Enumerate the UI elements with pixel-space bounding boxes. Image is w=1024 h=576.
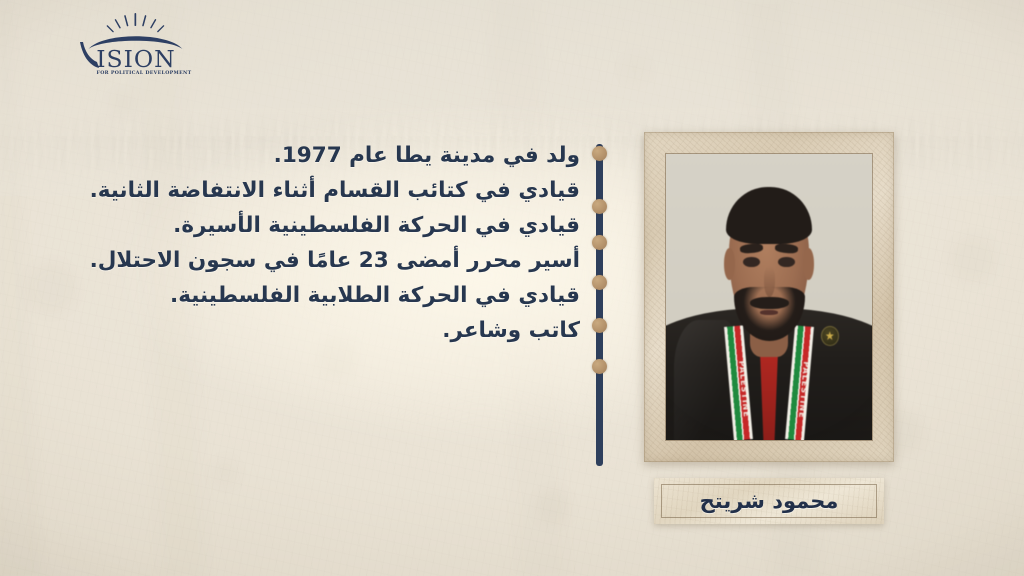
person-name: محمود شريتح: [654, 478, 884, 524]
portrait-photo: PALESTINE PALESTINE: [666, 154, 872, 440]
vision-logo: ISION FOR POLITICAL DEVELOPMENT: [68, 12, 203, 76]
portrait-mustache: [750, 297, 788, 309]
bio-line: ولد في مدينة يطا عام 1977.: [60, 138, 580, 173]
jacket-badge-icon: [821, 326, 840, 346]
portrait-ear-left: [724, 248, 735, 279]
bio-line: أسير محرر أمضى 23 عامًا في سجون الاحتلال…: [60, 243, 580, 278]
portrait-frame: PALESTINE PALESTINE: [644, 132, 894, 462]
scarf-label: PALESTINE: [786, 350, 812, 429]
slide-canvas: ISION FOR POLITICAL DEVELOPMENT ولد في م…: [0, 0, 1024, 576]
timeline-dot: [592, 275, 607, 290]
logo-wordmark: ISION: [96, 45, 176, 73]
timeline-dot: [592, 318, 607, 333]
scarf-label: PALESTINE: [726, 350, 752, 429]
logo-tagline: FOR POLITICAL DEVELOPMENT: [97, 70, 192, 76]
portrait-eye-left: [743, 257, 759, 267]
portrait-eye-right: [778, 257, 794, 267]
badge-emblem-icon: [826, 331, 834, 340]
timeline-rail: [592, 144, 606, 466]
scarf-band-right: PALESTINE: [785, 325, 814, 440]
timeline-dot: [592, 359, 607, 374]
timeline-line: [596, 144, 603, 466]
bio-line: قيادي في كتائب القسام أثناء الانتفاضة ال…: [60, 173, 580, 208]
scarf-band-left: PALESTINE: [724, 325, 753, 440]
biography-text-block: ولد في مدينة يطا عام 1977. قيادي في كتائ…: [60, 138, 580, 348]
name-plate: محمود شريتح: [654, 478, 884, 524]
timeline-dot: [592, 235, 607, 250]
logo-sunburst-rays: [106, 13, 164, 33]
bio-line: كاتب وشاعر.: [60, 313, 580, 348]
timeline-dot: [592, 199, 607, 214]
timeline-dot: [592, 146, 607, 161]
bio-line: قيادي في الحركة الطلابية الفلسطينية.: [60, 278, 580, 313]
portrait-mouth: [760, 310, 779, 315]
bio-line: قيادي في الحركة الفلسطينية الأسيرة.: [60, 208, 580, 243]
